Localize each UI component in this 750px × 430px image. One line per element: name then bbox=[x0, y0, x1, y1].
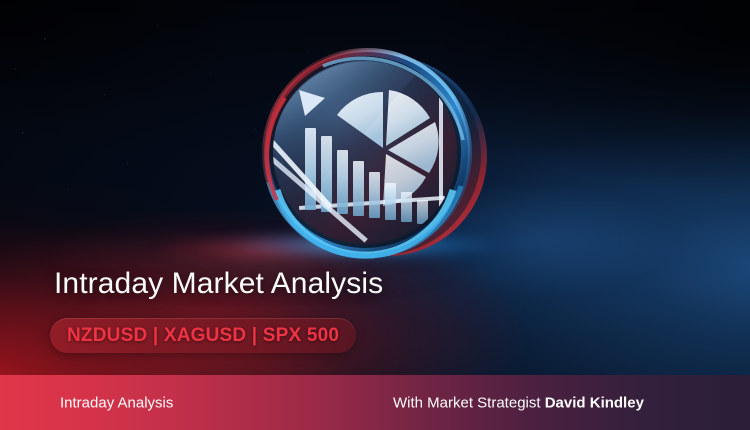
footer-bar: Intraday Analysis With Market Strategist… bbox=[0, 375, 750, 430]
banner-root: Intraday Market Analysis NZDUSD | XAGUSD… bbox=[0, 0, 750, 430]
footer-author: With Market Strategist David Kindley bbox=[393, 394, 644, 411]
coin-graphic bbox=[255, 40, 505, 265]
footer-category-label: Intraday Analysis bbox=[60, 394, 173, 411]
instruments-badge-label: NZDUSD | XAGUSD | SPX 500 bbox=[67, 325, 339, 347]
coin-chart-icon bbox=[255, 40, 505, 265]
chart-y-axis bbox=[439, 92, 443, 214]
instruments-badge: NZDUSD | XAGUSD | SPX 500 bbox=[50, 318, 356, 353]
page-title: Intraday Market Analysis bbox=[54, 267, 383, 301]
footer-author-prefix: With Market Strategist bbox=[393, 394, 541, 411]
footer-author-name: David Kindley bbox=[545, 394, 644, 411]
